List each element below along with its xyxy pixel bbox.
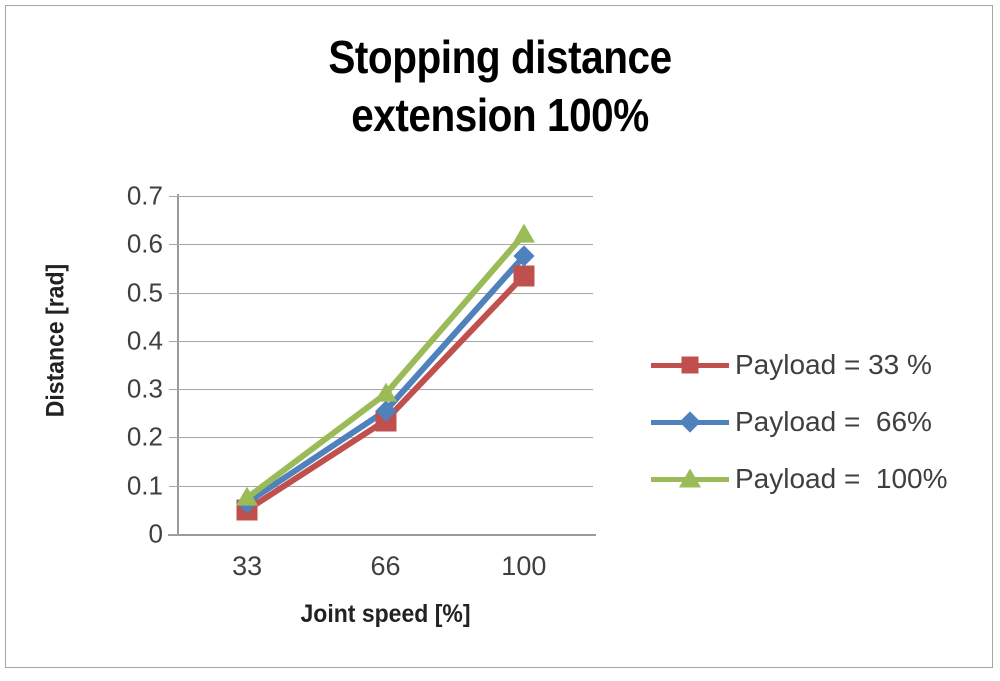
chart-container: Stopping distance extension 100% 00.10.2… — [5, 5, 993, 668]
data-point-marker — [375, 383, 397, 402]
series-line — [247, 235, 524, 498]
series-lines — [6, 6, 994, 669]
data-point-marker — [513, 223, 535, 242]
data-point-marker — [236, 486, 258, 505]
data-point-marker — [513, 265, 534, 286]
